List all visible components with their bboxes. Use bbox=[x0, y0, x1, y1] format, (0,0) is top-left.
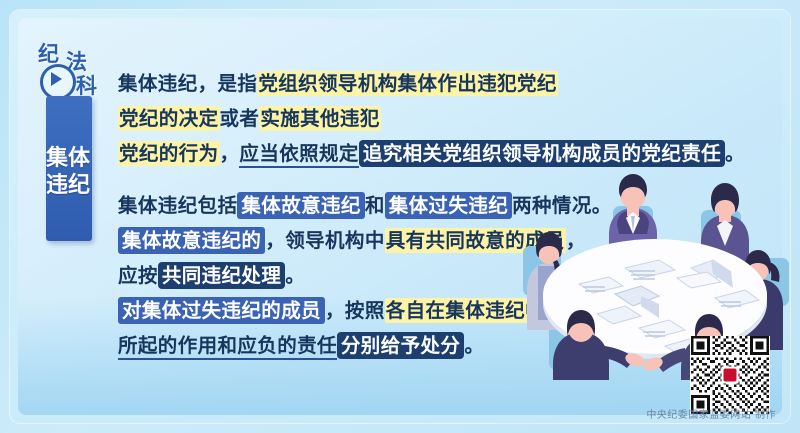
line5-plain: ，领导机构中 bbox=[265, 229, 384, 252]
line1-plain: 集体违纪，是指 bbox=[118, 72, 257, 95]
line8-navy-highlight: 分别给予处分 bbox=[337, 332, 464, 359]
text-line-1: 集体违纪，是指党组织领导机构集体作出违犯党纪 bbox=[118, 66, 728, 101]
poster-canvas: 纪 法 科 集体违纪 集体违纪，是指党组织领导机构集体作出违犯党纪 党纪的决定或… bbox=[0, 0, 800, 433]
line6-navy-highlight: 共同违纪处理 bbox=[158, 262, 285, 289]
line8-underlined: 所起的作用和应负的责任 bbox=[118, 334, 337, 360]
line4-plain-b: 和 bbox=[365, 194, 385, 217]
line3-comma: ， bbox=[220, 142, 240, 165]
play-triangle-icon bbox=[51, 72, 62, 86]
qr-center-logo bbox=[722, 367, 739, 384]
line2-highlight-b: 实施其他违犯 bbox=[259, 106, 380, 131]
line3-highlight: 党纪的行为 bbox=[118, 141, 220, 166]
line1-highlight: 党组织领导机构集体作出违犯党纪 bbox=[257, 71, 558, 96]
line7-plain: ，按照 bbox=[325, 299, 385, 322]
line4-blue-b: 集体过失违纪 bbox=[385, 192, 512, 219]
line3-underlined: 应当依照规定 bbox=[239, 142, 358, 168]
line4-plain-a: 集体违纪包括 bbox=[118, 194, 237, 217]
qr-code[interactable] bbox=[690, 336, 770, 414]
footer-credit: 中央纪委国家监委网站 制作 bbox=[646, 406, 776, 421]
line6-plain: 应按 bbox=[118, 264, 158, 287]
topic-banner-label: 集体违纪 bbox=[46, 146, 92, 200]
line6-period: 。 bbox=[285, 264, 305, 287]
line7-blue: 对集体过失违纪的成员 bbox=[118, 297, 325, 324]
text-line-2: 党纪的决定或者实施其他违犯 bbox=[118, 101, 728, 136]
line8-period: 。 bbox=[464, 334, 484, 357]
line5-blue: 集体故意违纪的 bbox=[118, 227, 265, 254]
brand-logo: 纪 法 科 集体违纪 bbox=[30, 34, 112, 214]
topic-banner: 集体违纪 bbox=[46, 96, 92, 241]
line2-plain: 或者 bbox=[220, 107, 260, 130]
logo-mark: 纪 法 科 bbox=[30, 34, 112, 104]
line4-blue-a: 集体故意违纪 bbox=[237, 192, 364, 219]
line2-highlight-a: 党纪的决定 bbox=[118, 106, 220, 131]
